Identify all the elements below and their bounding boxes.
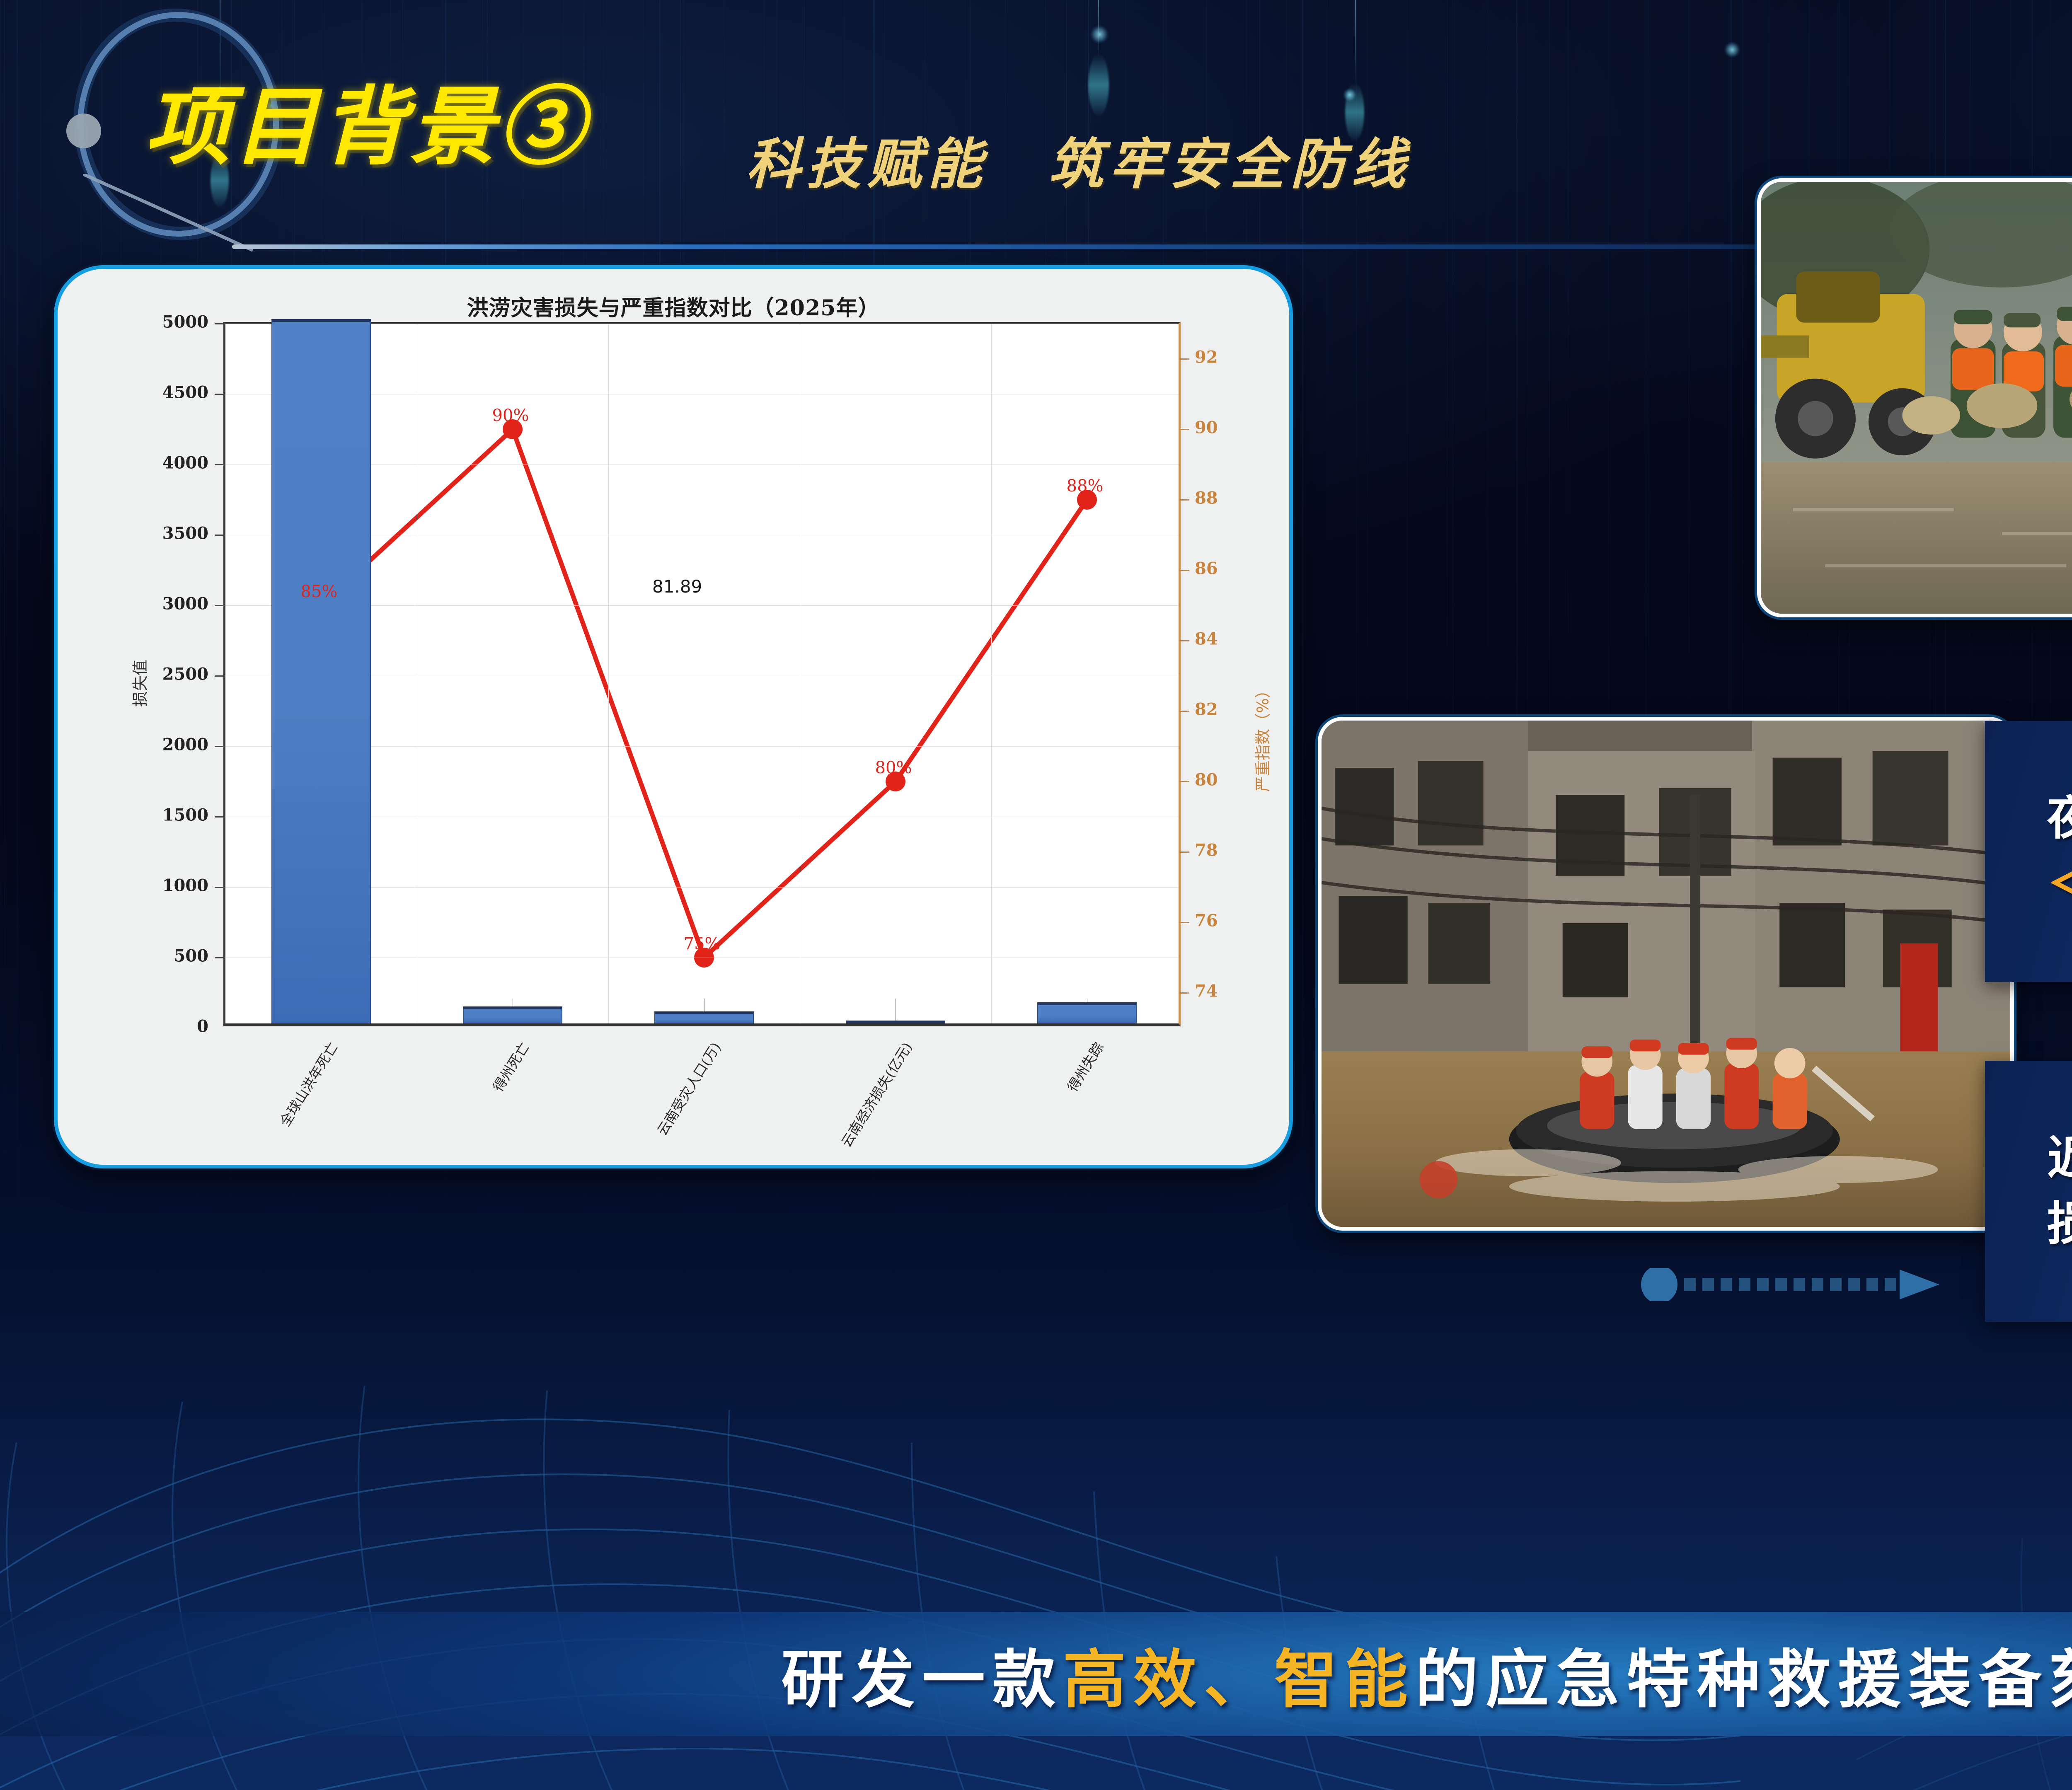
chart-tick-left [215, 675, 225, 677]
chart-data-label: 80% [875, 758, 912, 777]
banner-post: 的应急特种救援装备刻不容缓！ [1415, 1643, 2072, 1716]
chart-tick-right [1179, 851, 1189, 853]
chart-tick-right [1179, 499, 1189, 501]
light-dot [1090, 25, 1109, 44]
chart-bar [271, 319, 371, 1023]
chart-bar [463, 1006, 562, 1023]
chart-tick-left [215, 535, 225, 536]
chart-data-label: 85% [301, 582, 338, 601]
chart-y-axis-label-right: 严重指数（%） [1250, 682, 1273, 792]
chart-tick-left [215, 394, 225, 395]
chart-plot-area [223, 322, 1181, 1026]
info-box-1-highlight: ＜40% [2047, 857, 2072, 911]
info-box-2-text: 近5年全国年均洪涝直接经济 损失超2000亿元 [2047, 1125, 2072, 1257]
chart-y-tick-label-left: 500 [174, 946, 209, 966]
chart-x-tick-label: 得州死亡 [487, 1038, 533, 1095]
chart-gridline-vertical [991, 324, 992, 1023]
bottom-banner-text: 研发一款高效、智能的应急特种救援装备刻不容缓！ [0, 1628, 2072, 1720]
info-box-1-text: 夜间/浑浊水域搜救成功率 ＜40% [2047, 786, 2072, 917]
chart-tick-left [215, 887, 225, 888]
page-subtitle: 科技赋能 筑牢安全防线 [746, 120, 1411, 199]
chart-tick-left [215, 323, 225, 324]
chart-y-tick-label-left: 0 [197, 1017, 208, 1036]
hanging-light-stem [1355, 0, 1356, 87]
slide-canvas: 项目背景③ 科技赋能 筑牢安全防线 洪涝灾害损失与严重指数对比（2025年） 损… [0, 0, 2072, 1790]
chart-tick-right [1179, 781, 1189, 782]
chart-gridline-vertical [800, 324, 800, 1023]
chart-x-tick-label: 全球山洪年死亡 [274, 1038, 342, 1130]
chart-y-tick-label-right: 74 [1195, 982, 1218, 1001]
chart-tick-right [1179, 429, 1189, 430]
chart-y-tick-label-right: 86 [1195, 559, 1218, 578]
banner-highlight: 高效、智能 [1063, 1643, 1415, 1716]
info-box-2-line1: 近5年全国年均洪涝直接经济 [2047, 1131, 2072, 1185]
chart-data-label: 75% [684, 934, 721, 953]
chart-tick-left [215, 957, 225, 958]
chart-y-tick-label-left: 5000 [162, 312, 208, 332]
chart-bar [1037, 1002, 1137, 1023]
chart-x-tick-label: 云南经济损失(亿元) [835, 1038, 916, 1150]
banner-pre: 研发一款 [781, 1643, 1063, 1716]
chart-data-label: 90% [492, 406, 529, 425]
chart-annotation-average: 81.89 [652, 576, 702, 597]
chart-y-tick-label-right: 84 [1195, 629, 1218, 649]
chart-y-tick-label-left: 1000 [162, 876, 208, 895]
chart-tick-left [215, 464, 225, 465]
chart-y-tick-label-left: 3000 [162, 594, 208, 614]
chart-card: 洪涝灾害损失与严重指数对比（2025年） 损失值 严重指数（%） 0500100… [54, 265, 1293, 1168]
chart-tick-right [1179, 922, 1189, 923]
info-box-2-line2-plain: 损失 [2047, 1197, 2072, 1251]
chart-tick-right [1179, 992, 1189, 994]
chart-data-label: 88% [1067, 477, 1104, 496]
chart-y-tick-label-right: 82 [1195, 700, 1218, 719]
chart-y-tick-label-right: 92 [1195, 348, 1218, 367]
chart-tick-right [1179, 570, 1189, 571]
chart-y-tick-label-right: 80 [1195, 770, 1218, 790]
hanging-light-pill [1088, 54, 1109, 116]
chart-y-tick-label-right: 76 [1195, 911, 1218, 931]
chart-tick-left [215, 605, 225, 606]
chart-y-tick-label-right: 88 [1195, 489, 1218, 508]
chart-y-tick-label-right: 78 [1195, 841, 1218, 860]
chart-tick-left [215, 816, 225, 818]
chart-title: 洪涝灾害损失与严重指数对比（2025年） [58, 290, 1289, 322]
chart-x-tick-label: 云南受灾人口(万) [651, 1038, 725, 1139]
info-box-economic-loss: 近5年全国年均洪涝直接经济 损失超2000亿元 [1985, 1061, 2072, 1322]
chart-y-axis-label-left: 损失值 [128, 660, 150, 707]
chart-y-tick-label-left: 3500 [162, 524, 208, 543]
page-title: 项目背景③ [145, 58, 586, 181]
chart-tick-right [1179, 711, 1189, 712]
chart-gridline-vertical [417, 324, 417, 1023]
info-box-1-line1: 夜间/浑浊水域搜救成功率 [2047, 791, 2072, 845]
chart-y-tick-label-left: 4000 [162, 453, 208, 473]
chart-tick-left [215, 746, 225, 747]
chart-x-tick [896, 999, 896, 1023]
light-dot [1343, 88, 1357, 102]
chart-y-tick-label-left: 2000 [162, 735, 208, 755]
chart-line-path [321, 429, 1087, 958]
info-box-night-rescue: 夜间/浑浊水域搜救成功率 ＜40% [1985, 721, 2072, 982]
chart-x-tick-label: 得州失踪 [1062, 1038, 1108, 1095]
photo-flood-rescue-soldiers [1757, 178, 2072, 617]
light-dot [1724, 41, 1740, 58]
bottom-banner: 研发一款高效、智能的应急特种救援装备刻不容缓！ [0, 1612, 2072, 1736]
chart-gridline-vertical [608, 324, 609, 1023]
chart-tick-right [1179, 358, 1189, 360]
photo-flood-rescue-boat [1318, 717, 2014, 1231]
chart-bar [654, 1011, 754, 1023]
title-diagonal-line [83, 174, 257, 253]
chart-y-tick-label-left: 2500 [162, 665, 208, 684]
chart-bar [846, 1021, 945, 1023]
dashed-arrow-right-icon [1641, 1268, 1952, 1301]
chart-tick-right [1179, 640, 1189, 641]
chart-y-tick-label-left: 4500 [162, 383, 208, 402]
chart-y-tick-label-right: 90 [1195, 418, 1218, 438]
chart-y-tick-label-left: 1500 [162, 805, 208, 825]
